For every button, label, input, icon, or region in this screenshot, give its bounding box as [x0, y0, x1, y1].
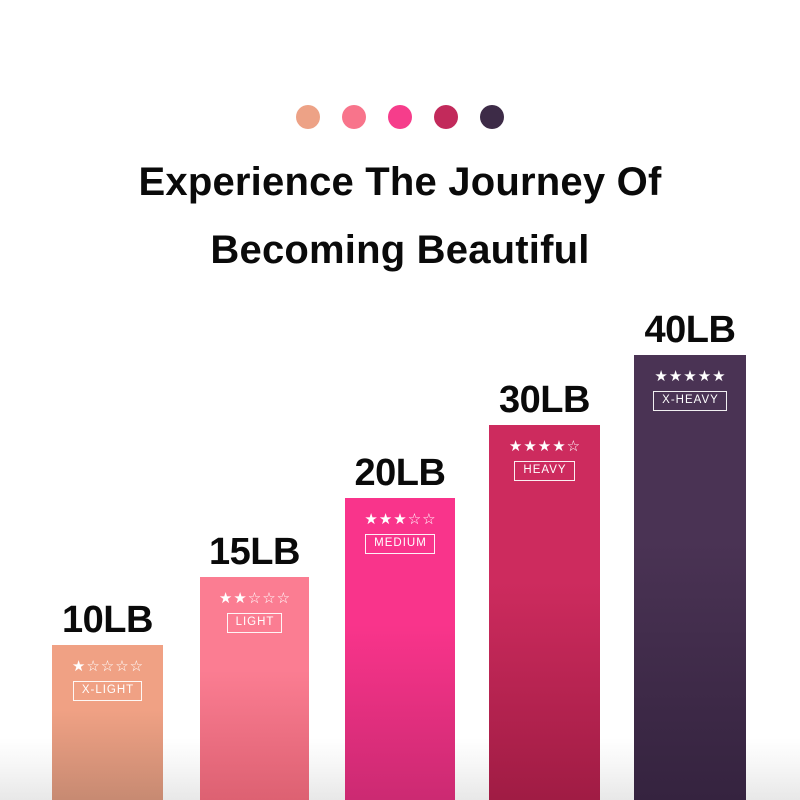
bar-group: 15LB★★☆☆☆LIGHT	[200, 577, 309, 800]
star-filled-icon: ★	[219, 591, 232, 606]
star-filled-icon: ★	[379, 512, 392, 527]
product-infographic: Experience The Journey Of Becoming Beaut…	[0, 0, 800, 800]
tier-label: LIGHT	[227, 613, 283, 633]
bar-value-label: 15LB	[209, 533, 300, 571]
dot-heavy	[434, 105, 458, 129]
bar: ★★★☆☆MEDIUM	[345, 498, 455, 800]
star-filled-icon: ★	[552, 439, 565, 454]
star-rating: ★★★★☆	[509, 439, 580, 454]
star-empty-icon: ☆	[262, 591, 275, 606]
star-empty-icon: ☆	[101, 659, 114, 674]
star-filled-icon: ★	[538, 439, 551, 454]
star-filled-icon: ★	[683, 369, 696, 384]
page-title-line-2: Becoming Beautiful	[0, 216, 800, 284]
star-filled-icon: ★	[698, 369, 711, 384]
star-filled-icon: ★	[393, 512, 406, 527]
star-rating: ★☆☆☆☆	[72, 659, 143, 674]
bar-value-label: 20LB	[355, 454, 446, 492]
bar-value-label: 40LB	[645, 311, 736, 349]
star-empty-icon: ☆	[86, 659, 99, 674]
color-swatch-row	[0, 105, 800, 129]
bar-value-label: 10LB	[62, 601, 153, 639]
bar-group: 10LB★☆☆☆☆X-LIGHT	[52, 645, 163, 800]
star-filled-icon: ★	[72, 659, 85, 674]
star-filled-icon: ★	[509, 439, 522, 454]
tier-label: X-LIGHT	[73, 681, 142, 701]
star-rating: ★★☆☆☆	[219, 591, 290, 606]
dot-x-light	[296, 105, 320, 129]
star-empty-icon: ☆	[408, 512, 421, 527]
bar: ★★★★★X-HEAVY	[634, 355, 746, 800]
dot-x-heavy	[480, 105, 504, 129]
star-filled-icon: ★	[233, 591, 246, 606]
star-empty-icon: ☆	[422, 512, 435, 527]
bar-badge: ★★★★★X-HEAVY	[634, 369, 746, 411]
star-empty-icon: ☆	[248, 591, 261, 606]
bar: ★★★★☆HEAVY	[489, 425, 600, 800]
bar-fill	[634, 355, 746, 800]
dot-light	[342, 105, 366, 129]
bar-badge: ★★★☆☆MEDIUM	[345, 512, 455, 554]
bar: ★☆☆☆☆X-LIGHT	[52, 645, 163, 800]
tier-label: X-HEAVY	[653, 391, 727, 411]
bar-badge: ★★☆☆☆LIGHT	[200, 591, 309, 633]
star-empty-icon: ☆	[115, 659, 128, 674]
bar-fill	[489, 425, 600, 800]
bar-group: 40LB★★★★★X-HEAVY	[634, 355, 746, 800]
star-filled-icon: ★	[364, 512, 377, 527]
bar-group: 30LB★★★★☆HEAVY	[489, 425, 600, 800]
bar-value-label: 30LB	[499, 381, 590, 419]
star-filled-icon: ★	[712, 369, 725, 384]
bar-badge: ★★★★☆HEAVY	[489, 439, 600, 481]
star-empty-icon: ☆	[130, 659, 143, 674]
star-filled-icon: ★	[669, 369, 682, 384]
tier-label: MEDIUM	[365, 534, 435, 554]
dot-medium	[388, 105, 412, 129]
star-rating: ★★★★★	[654, 369, 725, 384]
star-filled-icon: ★	[523, 439, 536, 454]
tier-label: HEAVY	[514, 461, 574, 481]
star-empty-icon: ☆	[277, 591, 290, 606]
star-empty-icon: ☆	[567, 439, 580, 454]
bar-group: 20LB★★★☆☆MEDIUM	[345, 498, 455, 800]
bar-badge: ★☆☆☆☆X-LIGHT	[52, 659, 163, 701]
bar: ★★☆☆☆LIGHT	[200, 577, 309, 800]
star-rating: ★★★☆☆	[364, 512, 435, 527]
page-title: Experience The Journey Of Becoming Beaut…	[0, 148, 800, 284]
page-title-line-1: Experience The Journey Of	[0, 148, 800, 216]
star-filled-icon: ★	[654, 369, 667, 384]
